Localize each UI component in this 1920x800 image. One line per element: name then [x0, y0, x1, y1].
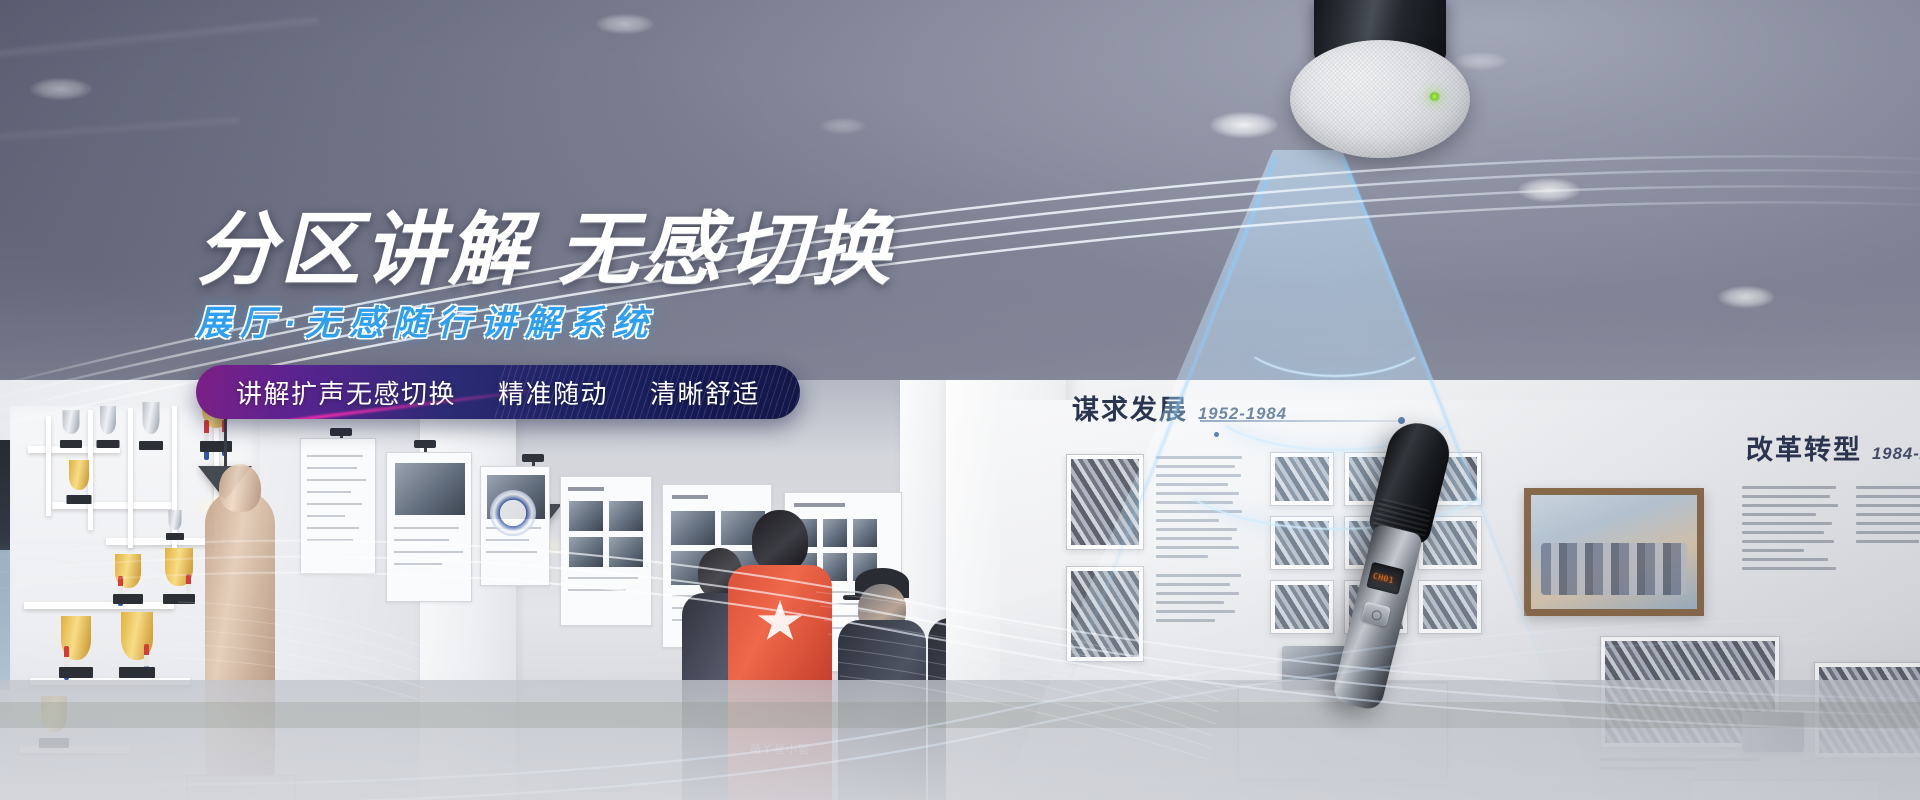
page-title: 分区讲解 无感切换: [196, 210, 1096, 290]
feature-item-3: 清晰舒适: [650, 374, 760, 411]
trophy: [136, 402, 166, 450]
exhibit-text-block: [1856, 486, 1920, 549]
museum-interior-photo: 萌丫星小管 谋求发展1952-1984: [0, 380, 1920, 800]
ceiling-downlight-icon: [1210, 112, 1278, 138]
school-crest-icon: [490, 490, 536, 536]
exhibit-heading-2: 改革转型1984-2010: [1746, 428, 1920, 467]
pendant-lamp-rod: [224, 414, 227, 468]
trophy: [58, 410, 84, 448]
ceiling-downlight-icon: [1518, 178, 1580, 202]
ceiling-downlight-icon: [30, 78, 92, 100]
exhibit-heading-2-title: 改革转型: [1746, 435, 1862, 465]
exhibit-photo: [1066, 454, 1144, 550]
trophy: [114, 612, 160, 678]
exhibit-text-block: [1742, 486, 1842, 576]
pendant-lamp-mount: [414, 440, 436, 448]
floor: [0, 680, 1920, 800]
feature-pill: 讲解扩声无感切换 精准随动 清晰舒适: [196, 365, 800, 419]
ceiling-light-strip: [0, 118, 240, 146]
trophy: [158, 548, 200, 604]
ceiling-downlight-icon: [1718, 286, 1774, 308]
trophy: [64, 460, 94, 504]
exhibit-photo: [1270, 580, 1334, 634]
trophy: [54, 616, 98, 678]
exhibit-panel: [560, 476, 652, 626]
exhibit-panel: [386, 452, 472, 602]
hero-copy: 分区讲解 无感切换 展厅·无感随行讲解系统 讲解扩声无感切换 精准随动 清晰舒适: [196, 210, 1096, 419]
floor-band: [0, 702, 1920, 728]
hero-banner: 萌丫星小管 谋求发展1952-1984: [0, 0, 1920, 800]
trophy: [108, 554, 148, 604]
trophy: [94, 406, 122, 448]
exhibit-rule: [1200, 420, 1400, 422]
pendant-lamp-mount: [330, 428, 352, 436]
exhibit-text-block: [1156, 456, 1246, 564]
microphone-display-text: CH01: [1372, 571, 1395, 585]
shelf-divider: [128, 408, 133, 548]
exhibit-rule-dot: [1214, 432, 1219, 437]
ceiling-speaker: [1290, 0, 1470, 170]
shelf: [24, 602, 174, 609]
exhibit-painting: [1524, 488, 1704, 616]
exhibit-panel: [300, 438, 376, 574]
speaker-led-indicator: [1428, 92, 1441, 101]
exhibit-photo: [1270, 516, 1334, 570]
exhibit-photo: [1418, 580, 1482, 634]
exhibit-photo: [1066, 566, 1144, 662]
speaker-grille-icon: [1290, 40, 1470, 158]
exhibit-heading-2-years: 1984-2010: [1872, 444, 1920, 463]
ceiling-light-strip: [0, 17, 319, 63]
ceiling-downlight-icon: [820, 118, 866, 134]
feature-item-2: 精准随动: [498, 374, 608, 411]
exhibit-photo: [1270, 452, 1334, 506]
ceiling-downlight-icon: [596, 14, 654, 34]
page-subtitle: 展厅·无感随行讲解系统: [196, 306, 1096, 341]
trophy: [164, 510, 186, 540]
exhibit-text-block: [1156, 574, 1246, 628]
shelf-divider: [46, 416, 51, 516]
feature-item-1: 讲解扩声无感切换: [236, 374, 456, 411]
pendant-lamp-mount: [522, 454, 544, 462]
